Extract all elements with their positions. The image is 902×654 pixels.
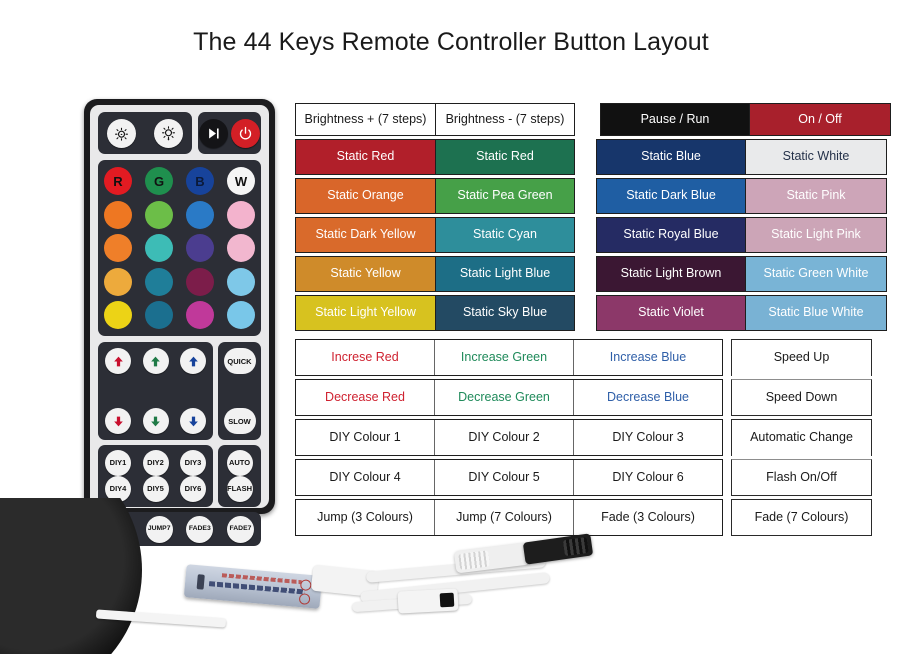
legend-cell-flash-on-off[interactable]: Flash On/Off: [731, 459, 872, 496]
colour-row: R G B W: [104, 167, 255, 195]
legend-colour-row: Static Light Yellow Static Sky Blue Stat…: [295, 295, 887, 331]
legend-gap: [575, 139, 596, 175]
colour-button-light-yellow[interactable]: [104, 301, 132, 329]
diy6-label: DIY6: [185, 485, 202, 493]
legend-colour-row: Static Yellow Static Light Blue Static L…: [295, 256, 887, 292]
legend-cell-pause-run[interactable]: Pause / Run: [601, 104, 749, 135]
legend-function-triple: DIY Colour 1 DIY Colour 2 DIY Colour 3: [295, 419, 723, 456]
legend-cell-static-dark-blue[interactable]: Static Dark Blue: [597, 179, 745, 213]
legend-cell-decrease-green[interactable]: Decrease Green: [435, 380, 574, 415]
colour-button-orange[interactable]: [104, 201, 132, 229]
legend-cell-increase-blue[interactable]: Increase Blue: [574, 340, 722, 375]
legend-colour-right-group: Static Royal Blue Static Light Pink: [596, 217, 887, 253]
barrel-connector-rings: [458, 550, 490, 570]
dc-barrel-jack: [523, 533, 593, 564]
legend-cell-static-sky-blue[interactable]: Static Sky Blue: [435, 296, 574, 330]
colour-button-g[interactable]: G: [145, 167, 173, 195]
diy3-label: DIY3: [185, 459, 202, 467]
diy2-button[interactable]: DIY2: [143, 450, 169, 476]
colour-button-violet[interactable]: [186, 301, 214, 329]
legend-cell-static-red[interactable]: Static Red: [296, 140, 435, 174]
pause-power-group: Pause / Run On / Off: [600, 103, 891, 136]
legend-cell-speed-down[interactable]: Speed Down: [731, 379, 872, 416]
barrel-jack-rings: [563, 537, 589, 556]
colour-row: [104, 301, 255, 329]
legend-colour-left-group: Static Dark Yellow Static Cyan: [295, 217, 575, 253]
legend-colour-right-group: Static Light Brown Static Green White: [596, 256, 887, 292]
legend-gap: [575, 217, 596, 253]
legend-cell-increase-red[interactable]: Increse Red: [296, 340, 435, 375]
remote-faceplate: R G B W: [90, 105, 269, 508]
arrow-down-icon: [149, 415, 162, 428]
legend-cell-static-light-blue[interactable]: Static Light Blue: [435, 257, 574, 291]
colour-button-b[interactable]: B: [186, 167, 214, 195]
legend-cell-static-orange[interactable]: Static Orange: [296, 179, 435, 213]
colour-button-w[interactable]: W: [227, 167, 255, 195]
slow-button-label: SLOW: [228, 417, 251, 426]
legend-colour-right-group: Static Blue Static White: [596, 139, 887, 175]
auto-button[interactable]: AUTO: [227, 450, 253, 476]
increase-red-arrow[interactable]: [105, 348, 131, 374]
rgb-arrow-pad: [98, 342, 213, 440]
decrease-red-arrow[interactable]: [105, 408, 131, 434]
legend-gap: [575, 256, 596, 292]
legend-function-row: Decrease Red Decrease Green Decrease Blu…: [295, 379, 887, 416]
colour-button-label: G: [154, 174, 164, 189]
colour-row: [104, 234, 255, 262]
diy1-button[interactable]: DIY1: [105, 450, 131, 476]
diy4-label: DIY4: [110, 485, 127, 493]
brightness-down-button[interactable]: [154, 119, 183, 148]
legend-cell-automatic-change[interactable]: Automatic Change: [731, 419, 872, 456]
legend-function-row: DIY Colour 1 DIY Colour 2 DIY Colour 3 A…: [295, 419, 887, 456]
arrow-down-icon: [187, 415, 200, 428]
legend-cell-diy-colour-3[interactable]: DIY Colour 3: [574, 420, 722, 455]
remote-arrow-zone: QUICK SLOW: [98, 342, 261, 440]
legend-cell-static-green-white[interactable]: Static Green White: [745, 257, 886, 291]
legend-cell-static-white[interactable]: Static White: [745, 140, 886, 174]
speed-pad: QUICK SLOW: [218, 342, 261, 440]
product-photo: [0, 498, 640, 654]
increase-green-arrow[interactable]: [143, 348, 169, 374]
power-pad: [198, 112, 261, 154]
legend-gap: [575, 178, 596, 214]
legend-cell-diy-colour-1[interactable]: DIY Colour 1: [296, 420, 435, 455]
decrease-blue-arrow[interactable]: [180, 408, 206, 434]
led-strip-reel: [0, 498, 142, 654]
sun-down-icon: [160, 125, 177, 142]
legend-colour-row: Static Orange Static Pea Green Static Da…: [295, 178, 887, 214]
colour-button-yellow[interactable]: [104, 268, 132, 296]
diy3-button[interactable]: DIY3: [180, 450, 206, 476]
colour-button-green-white[interactable]: [227, 268, 255, 296]
legend-cell-static-pink[interactable]: Static Pink: [745, 179, 886, 213]
legend-cell-static-blue[interactable]: Static Blue: [597, 140, 745, 174]
legend-cell-fade-7-colours[interactable]: Fade (7 Colours): [731, 499, 872, 536]
legend-colour-row: Static Red Static Red Static Blue Static…: [295, 139, 887, 175]
colour-button-dark-yellow[interactable]: [104, 234, 132, 262]
legend-cell-brightness-up[interactable]: Brightness + (7 steps): [296, 104, 435, 135]
colour-button-pink[interactable]: [227, 201, 255, 229]
legend-cell-static-violet[interactable]: Static Violet: [597, 296, 745, 330]
legend-function-row: Increse Red Increase Green Increase Blue…: [295, 339, 887, 376]
brightness-pad: [98, 112, 192, 154]
legend-gap: [575, 295, 596, 331]
legend-function-triple: Decrease Red Decrease Green Decrease Blu…: [295, 379, 723, 416]
legend-cell-static-cyan[interactable]: Static Cyan: [435, 218, 574, 252]
legend-cell-on-off[interactable]: On / Off: [749, 104, 890, 135]
diy-row: DIY1 DIY2 DIY3: [105, 450, 206, 476]
legend-cell-static-light-pink[interactable]: Static Light Pink: [745, 218, 886, 252]
power-button[interactable]: [231, 119, 260, 148]
diy5-label: DIY5: [147, 485, 164, 493]
arrow-up-icon: [187, 355, 200, 368]
jst-connector: [397, 588, 458, 613]
legend-cell-diy-colour-6[interactable]: DIY Colour 6: [574, 460, 722, 495]
legend-cell-static-yellow[interactable]: Static Yellow: [296, 257, 435, 291]
legend-function-row: DIY Colour 4 DIY Colour 5 DIY Colour 6 F…: [295, 459, 887, 496]
legend-cell-static-dark-yellow[interactable]: Static Dark Yellow: [296, 218, 435, 252]
colour-button-light-blue[interactable]: [145, 268, 173, 296]
remote-top-zone: [98, 112, 261, 154]
slow-button[interactable]: SLOW: [224, 408, 256, 434]
colour-button-label: B: [195, 174, 204, 189]
button-legend-table: Brightness + (7 steps) Brightness - (7 s…: [295, 103, 887, 539]
diy1-label: DIY1: [110, 459, 127, 467]
power-icon: [238, 126, 253, 141]
page-title: The 44 Keys Remote Controller Button Lay…: [0, 28, 902, 57]
legend-colour-left-group: Static Orange Static Pea Green: [295, 178, 575, 214]
jst-connector-pin: [440, 593, 455, 608]
colour-button-dark-blue[interactable]: [186, 201, 214, 229]
controller-icon-bottom: [299, 593, 311, 605]
colour-button-grid: R G B W: [98, 160, 261, 336]
legend-colour-right-group: Static Violet Static Blue White: [596, 295, 887, 331]
arrow-up-icon: [149, 355, 162, 368]
colour-button-blue-white[interactable]: [227, 301, 255, 329]
colour-button-sky-blue[interactable]: [145, 301, 173, 329]
legend-cell-decrease-red[interactable]: Decrease Red: [296, 380, 435, 415]
colour-button-royal-blue[interactable]: [186, 234, 214, 262]
legend-cell-static-blue-white[interactable]: Static Blue White: [745, 296, 886, 330]
brightness-group: Brightness + (7 steps) Brightness - (7 s…: [295, 103, 575, 136]
legend-cell-static-green[interactable]: Static Red: [435, 140, 574, 174]
controller-led: [197, 574, 205, 590]
colour-row: [104, 201, 255, 229]
sun-up-icon: [113, 125, 130, 142]
legend-cell-brightness-down[interactable]: Brightness - (7 steps): [435, 104, 574, 135]
diy2-label: DIY2: [147, 459, 164, 467]
colour-button-cyan[interactable]: [145, 234, 173, 262]
legend-cell-static-royal-blue[interactable]: Static Royal Blue: [597, 218, 745, 252]
colour-button-light-pink[interactable]: [227, 234, 255, 262]
remote-control: R G B W: [84, 99, 275, 514]
quick-button-label: QUICK: [227, 357, 251, 366]
legend-cell-increase-green[interactable]: Increase Green: [435, 340, 574, 375]
colour-button-label: R: [113, 174, 122, 189]
controller-icon-top: [300, 579, 312, 591]
colour-button-pea-green[interactable]: [145, 201, 173, 229]
play-pause-icon: [206, 126, 221, 141]
legend-header-row: Brightness + (7 steps) Brightness - (7 s…: [295, 103, 887, 136]
legend-colour-left-group: Static Yellow Static Light Blue: [295, 256, 575, 292]
legend-cell-diy-colour-5[interactable]: DIY Colour 5: [435, 460, 574, 495]
legend-colour-right-group: Static Dark Blue Static Pink: [596, 178, 887, 214]
arrow-down-icon: [112, 415, 125, 428]
legend-cell-diy-colour-4[interactable]: DIY Colour 4: [296, 460, 435, 495]
legend-colour-left-group: Static Light Yellow Static Sky Blue: [295, 295, 575, 331]
legend-colour-row: Static Dark Yellow Static Cyan Static Ro…: [295, 217, 887, 253]
colour-button-r[interactable]: R: [104, 167, 132, 195]
decrease-green-arrow[interactable]: [143, 408, 169, 434]
flash-label: FLASH: [227, 485, 252, 493]
colour-button-label: W: [235, 174, 247, 189]
arrow-row-down: [105, 408, 206, 434]
legend-cell-diy-colour-2[interactable]: DIY Colour 2: [435, 420, 574, 455]
arrow-up-icon: [112, 355, 125, 368]
auto-label: AUTO: [229, 459, 250, 467]
arrow-row-up: [105, 348, 206, 374]
colour-row: [104, 268, 255, 296]
quick-button[interactable]: QUICK: [224, 348, 256, 374]
legend-cell-speed-up[interactable]: Speed Up: [731, 339, 872, 376]
legend-function-triple: DIY Colour 4 DIY Colour 5 DIY Colour 6: [295, 459, 723, 496]
increase-blue-arrow[interactable]: [180, 348, 206, 374]
colour-button-light-brown[interactable]: [186, 268, 214, 296]
play-pause-button[interactable]: [199, 119, 228, 148]
legend-cell-decrease-blue[interactable]: Decrease Blue: [574, 380, 722, 415]
legend-function-triple: Increse Red Increase Green Increase Blue: [295, 339, 723, 376]
mini-controller-box: [184, 564, 322, 609]
brightness-up-button[interactable]: [107, 119, 136, 148]
legend-cell-static-light-brown[interactable]: Static Light Brown: [597, 257, 745, 291]
legend-colour-left-group: Static Red Static Red: [295, 139, 575, 175]
legend-cell-static-light-yellow[interactable]: Static Light Yellow: [296, 296, 435, 330]
legend-cell-static-pea-green[interactable]: Static Pea Green: [435, 179, 574, 213]
